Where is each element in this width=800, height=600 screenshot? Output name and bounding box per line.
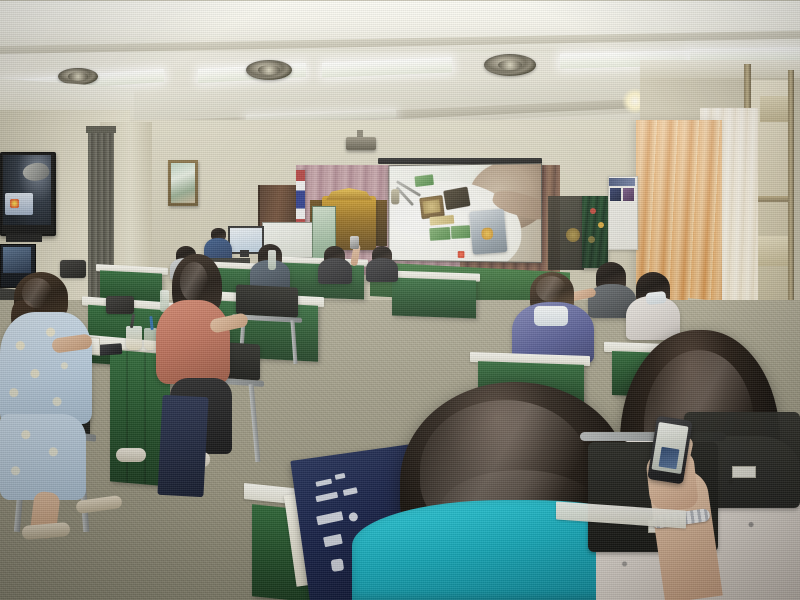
rollup-banner-image — [623, 188, 634, 201]
projection-screen — [388, 163, 542, 263]
rollup-banner-headline — [609, 178, 635, 186]
person-torso — [318, 258, 352, 284]
coral-shirt-woman-torso — [156, 300, 230, 384]
projected-green-cloth — [414, 174, 433, 187]
handbag — [106, 296, 134, 314]
face-mask — [534, 306, 568, 326]
sneaker — [116, 448, 146, 462]
hair-highlight — [22, 278, 52, 308]
standee-graphic-dot — [590, 208, 596, 214]
projected-green-cloth — [429, 227, 450, 241]
broadcast-logo-icon — [458, 251, 465, 258]
person-torso — [366, 258, 398, 282]
raised-phone — [350, 236, 359, 249]
thai-flag — [296, 170, 305, 230]
bag-under-desk — [157, 395, 208, 497]
chair-inventory-tag — [732, 466, 756, 478]
smartphone-on-desk — [98, 343, 123, 356]
face-mask — [645, 291, 666, 305]
standee-graphic-dot — [598, 222, 604, 228]
projected-tray-contents — [423, 199, 441, 214]
framed-picture — [168, 160, 198, 206]
monitor-image-shape — [21, 159, 51, 184]
hair-highlight — [536, 276, 566, 302]
standee-graphic-dot — [588, 236, 595, 243]
projected-container-contents — [481, 227, 493, 240]
dress-skirt — [0, 414, 86, 500]
wall-monitor-screen — [3, 155, 51, 225]
projected-green-cloth — [451, 225, 471, 239]
handbag — [60, 260, 86, 278]
desk-skirt — [392, 278, 476, 319]
projector — [346, 137, 376, 150]
hair-highlight — [180, 262, 208, 302]
projected-bottle — [391, 189, 399, 204]
framed-picture-canvas — [171, 163, 195, 203]
chair — [236, 284, 298, 317]
rollup-banner-image — [610, 188, 621, 201]
water-bottle — [268, 250, 276, 270]
monitor-stand — [6, 234, 42, 242]
air-diffuser-icon — [246, 60, 292, 80]
floral-dress-woman-torso — [0, 312, 92, 424]
folding-partition-track — [86, 126, 116, 133]
monitor-image-logo-icon — [10, 199, 19, 208]
window-header — [640, 60, 800, 78]
front-monitor-stand — [240, 250, 249, 257]
emblem-icon — [566, 228, 580, 242]
air-diffuser-icon — [484, 54, 536, 76]
wall-monitor — [0, 152, 56, 236]
iced-coffee-cup — [126, 326, 142, 350]
display-standee — [582, 196, 608, 268]
smartphone-captured-image — [659, 447, 680, 470]
seminar-room-photograph: Participants seated at green-skirted des… — [0, 0, 800, 600]
secondary-monitor-screen — [3, 247, 31, 273]
